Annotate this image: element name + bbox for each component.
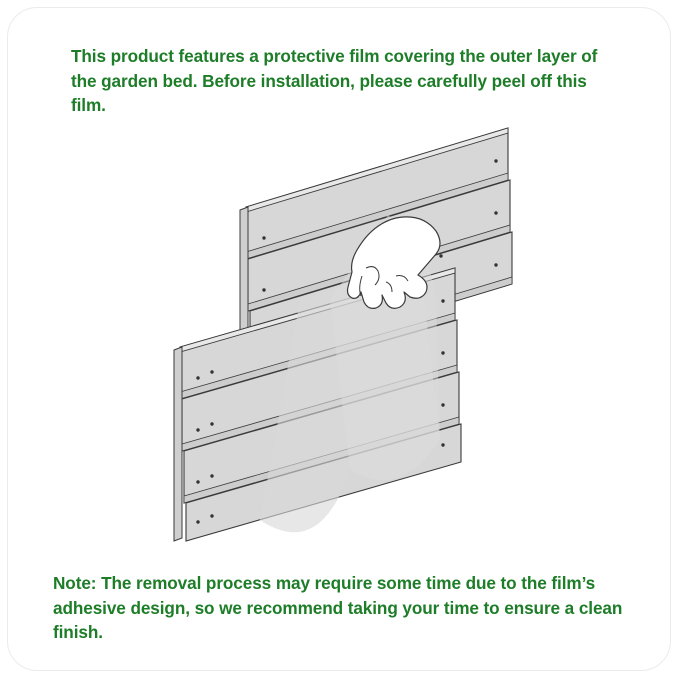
instruction-card: This product features a protective film … xyxy=(7,7,671,671)
top-instruction-text: This product features a protective film … xyxy=(71,44,623,118)
bottom-note-text: Note: The removal process may require so… xyxy=(53,571,645,645)
